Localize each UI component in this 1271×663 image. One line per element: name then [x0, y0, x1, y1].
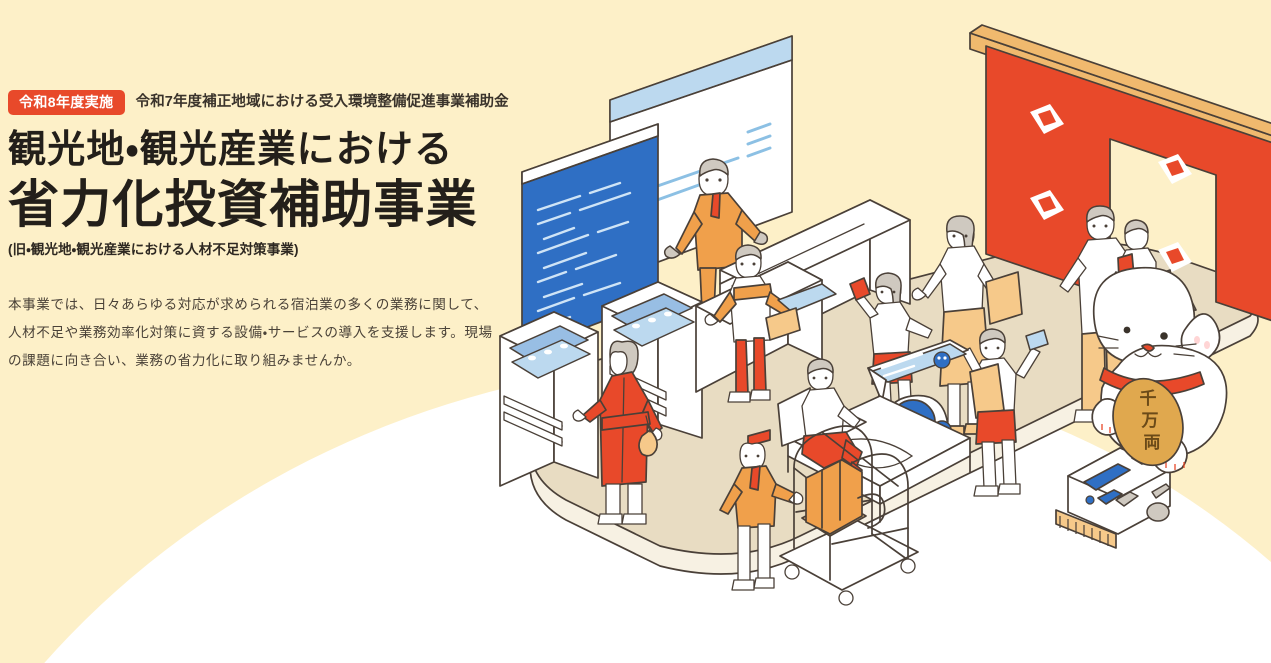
hero-description: 本事業では、日々あらゆる対応が求められる宿泊業の多くの業務に関して、人材不足や業… — [8, 291, 494, 375]
fiscal-year-badge: 令和8年度実施 — [8, 90, 125, 115]
coin-char-1: 千 — [1140, 389, 1157, 409]
former-program-name: (旧・観光地・観光産業における人材不足対策事業) — [8, 241, 538, 259]
coin-char-2: 万 — [1141, 411, 1159, 431]
program-subsidy-name: 令和7年度補正地域における受入環境整備促進事業補助金 — [136, 94, 509, 111]
hero-copy-block: 令和8年度実施 令和7年度補正地域における受入環境整備促進事業補助金 観光地・観… — [8, 90, 538, 375]
hero-banner: 令和8年度実施 令和7年度補正地域における受入環境整備促進事業補助金 観光地・観… — [0, 0, 1271, 663]
page-title-line2: 省力化投資補助事業 — [8, 175, 538, 235]
coin-char-3: 両 — [1144, 433, 1161, 453]
isometric-hotel-scene: .ol{fill:none;stroke:#4a4038;stroke-widt… — [470, 0, 1271, 663]
hero-illustration: .ol{fill:none;stroke:#4a4038;stroke-widt… — [470, 0, 1271, 663]
eyebrow-row: 令和8年度実施 令和7年度補正地域における受入環境整備促進事業補助金 — [8, 90, 538, 115]
page-title-line1: 観光地・観光産業における — [8, 128, 538, 173]
